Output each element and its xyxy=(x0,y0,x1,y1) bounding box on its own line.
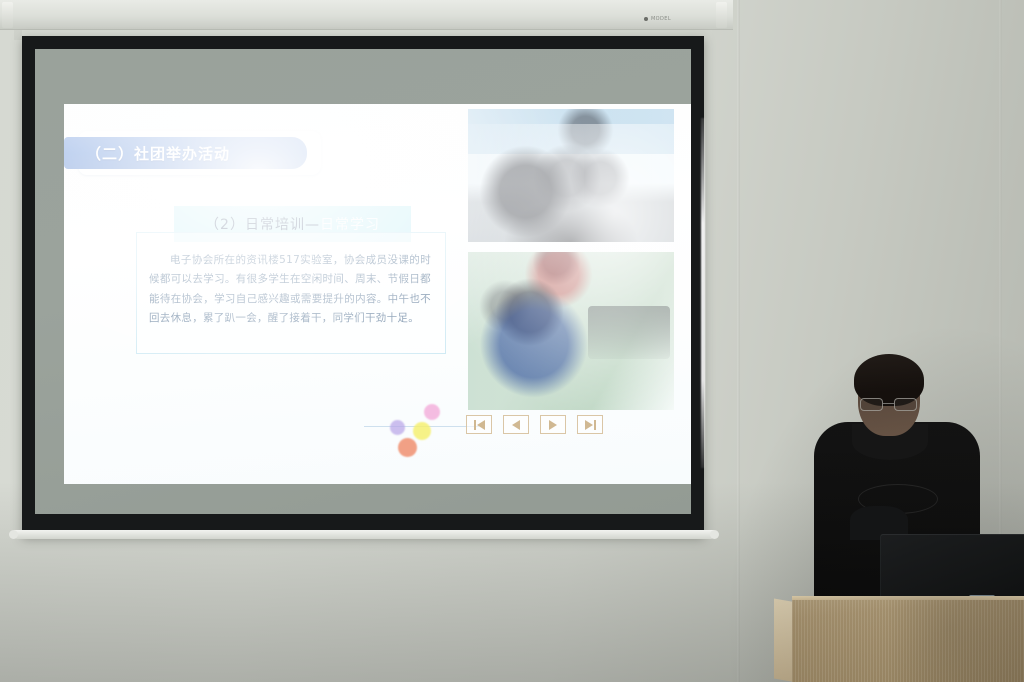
roller-bracket-right xyxy=(712,30,720,40)
podium-shadow xyxy=(792,600,1024,682)
next-slide-button[interactable] xyxy=(540,415,566,434)
triangle-right-icon xyxy=(585,420,593,430)
screen-roller-housing: MODEL xyxy=(0,0,733,30)
podium-side-panel xyxy=(774,598,794,682)
roller-endcap-right xyxy=(716,2,727,28)
first-slide-button[interactable] xyxy=(466,415,492,434)
photo-content xyxy=(468,109,674,242)
slide-body-text: 电子协会所在的资讯楼517实验室，协会成员没课的时候都可以去学习。有很多学生在空… xyxy=(149,251,431,329)
bar-glyph xyxy=(594,420,596,430)
slide-subtitle-faded: 日常学习 xyxy=(320,217,380,233)
lab-students-photo xyxy=(468,109,674,242)
classroom-scene: MODEL （二）社团举办活动 （2）日常培训—日常学习 电子协会所在的资讯楼5… xyxy=(0,0,1024,682)
eyeglasses-icon xyxy=(860,398,918,411)
purple-dot xyxy=(390,420,405,435)
roller-label: MODEL xyxy=(646,15,676,24)
soldering-students-photo xyxy=(468,252,674,410)
projector-light-streak xyxy=(701,118,705,468)
slide-subtitle: （2）日常培训—日常学习 xyxy=(205,214,380,234)
triangle-left-icon xyxy=(477,420,485,430)
screen-surface: （二）社团举办活动 （2）日常培训—日常学习 电子协会所在的资讯楼517实验室，… xyxy=(35,49,691,514)
pink-dot xyxy=(424,404,440,420)
triangle-left-icon xyxy=(512,420,520,430)
glasses-bridge xyxy=(883,403,894,404)
lens-left xyxy=(860,398,883,411)
triangle-right-icon xyxy=(549,420,557,430)
orange-dot xyxy=(398,438,417,457)
presenter xyxy=(806,338,1024,682)
previous-slide-button[interactable] xyxy=(503,415,529,434)
slide-navigation-bar[interactable] xyxy=(466,415,603,434)
last-slide-button[interactable] xyxy=(577,415,603,434)
roller-endcap-left xyxy=(2,2,13,28)
projected-slide: （二）社团举办活动 （2）日常培训—日常学习 电子协会所在的资讯楼517实验室，… xyxy=(64,104,691,484)
slide-title-banner: （二）社团举办活动 xyxy=(64,137,307,169)
lens-right xyxy=(894,398,917,411)
roller-bracket-left xyxy=(14,30,22,40)
screen-weight-bar xyxy=(14,530,714,539)
projection-screen: （二）社团举办活动 （2）日常培训—日常学习 电子协会所在的资讯楼517实验室，… xyxy=(22,36,704,536)
yellow-dot xyxy=(413,422,431,440)
slide-title: （二）社团举办活动 xyxy=(86,143,230,164)
photo-content xyxy=(468,252,674,410)
bar-glyph xyxy=(474,420,476,430)
slide-body-box: 电子协会所在的资讯楼517实验室，协会成员没课的时候都可以去学习。有很多学生在空… xyxy=(136,232,446,354)
